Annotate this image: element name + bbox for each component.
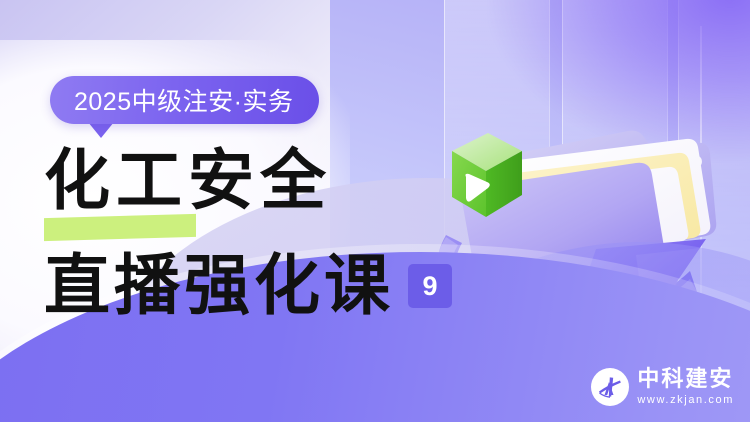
brand-url: www.zkjan.com — [637, 394, 734, 406]
course-promo-banner: 2025中级注安·实务 化工安全 直播强化课 9 中科建安 www.zkjan.… — [0, 0, 750, 422]
badge-bubble-tail — [88, 122, 114, 138]
headline-green-highlight — [44, 214, 196, 241]
episode-number-badge: 9 — [408, 264, 452, 308]
course-category-badge: 2025中级注安·实务 — [50, 76, 319, 124]
zkjan-logo-icon — [591, 368, 629, 406]
headline-line-2: 直播强化课 — [44, 253, 394, 319]
logo-text-block: 中科建安 www.zkjan.com — [637, 368, 734, 405]
brand-name: 中科建安 — [637, 368, 734, 391]
headline-line-2-row: 直播强化课 9 — [44, 253, 452, 319]
headline-line-1: 化工安全 — [44, 148, 332, 214]
brand-logo: 中科建安 www.zkjan.com — [591, 368, 734, 406]
course-category-label: 2025中级注安·实务 — [74, 82, 293, 118]
poster-content: 2025中级注安·实务 化工安全 直播强化课 9 — [0, 0, 750, 422]
